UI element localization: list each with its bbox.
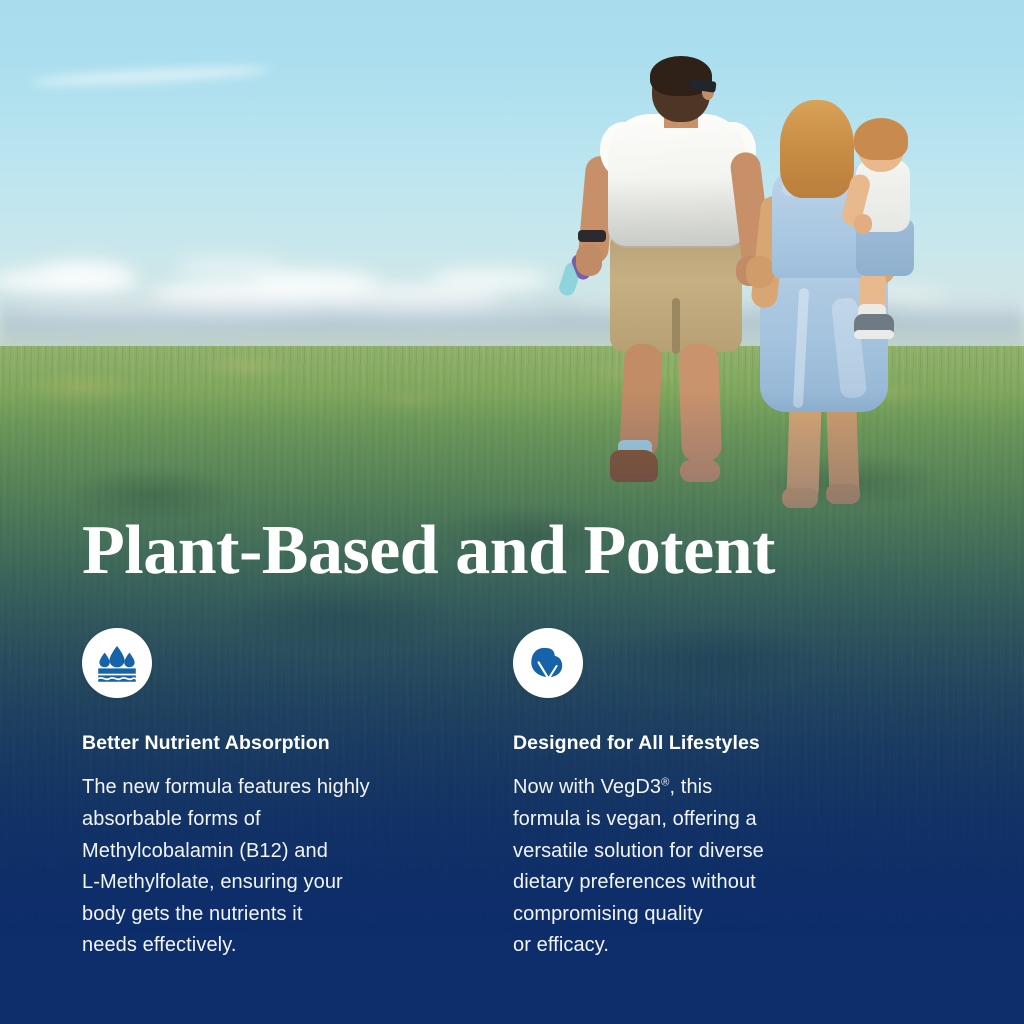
feature-title: Designed for All Lifestyles bbox=[513, 732, 944, 755]
content-layer: Plant-Based and Potent bbox=[0, 0, 1024, 1024]
feature-body-post: , this formula is vegan, offering a vers… bbox=[513, 776, 764, 956]
leaf-icon bbox=[513, 628, 583, 698]
water-absorption-icon bbox=[82, 628, 152, 698]
feature-columns: Better Nutrient Absorption The new formu… bbox=[82, 628, 962, 962]
page-title: Plant-Based and Potent bbox=[82, 516, 775, 586]
feature-body: Now with VegD3®, this formula is vegan, … bbox=[513, 772, 873, 962]
promo-banner: Plant-Based and Potent bbox=[0, 0, 1024, 1024]
feature-designed-for-all-lifestyles: Designed for All Lifestyles Now with Veg… bbox=[513, 628, 944, 962]
feature-title: Better Nutrient Absorption bbox=[82, 732, 513, 755]
feature-better-nutrient-absorption: Better Nutrient Absorption The new formu… bbox=[82, 628, 513, 962]
feature-body: The new formula features highly absorbab… bbox=[82, 772, 442, 962]
feature-body-pre: Now with VegD3 bbox=[513, 776, 661, 798]
